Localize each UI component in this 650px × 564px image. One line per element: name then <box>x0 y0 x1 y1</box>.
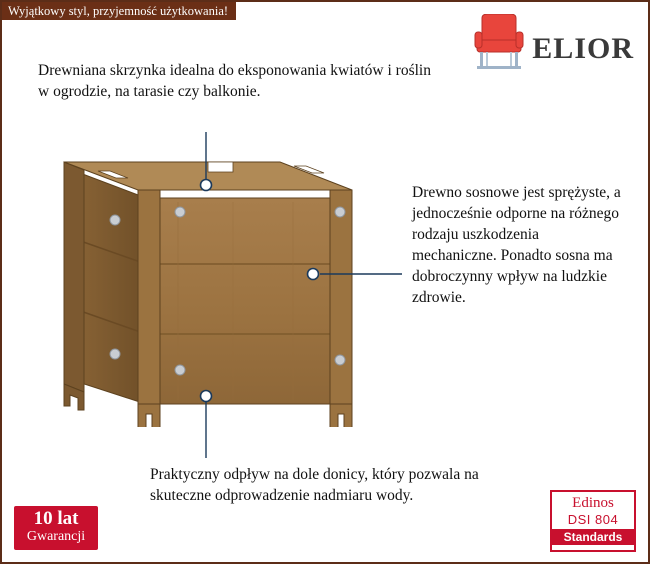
infographic-page: Wyjątkowy styl, przyjemność użytkowania!… <box>0 0 650 564</box>
callout-bottom-text: Praktyczny odpływ na dole donicy, który … <box>150 464 510 506</box>
certificate-name: Edinos <box>552 492 634 512</box>
brand-logo: ELIOR <box>444 14 634 76</box>
certificate-code: DSI 804 <box>552 512 634 527</box>
warranty-years: 10 lat <box>14 506 98 529</box>
warranty-badge: 10 lat Gwarancji <box>14 506 98 550</box>
brand-name: ELIOR <box>532 32 634 66</box>
callout-right-text: Drewno sosnowe jest sprężyste, a jednocz… <box>412 182 627 308</box>
callout-top-text: Drewniana skrzynka idealna do eksponowan… <box>38 60 438 102</box>
certificate-badge: Edinos DSI 804 Standards <box>550 490 636 552</box>
certificate-standards: Standards <box>552 529 634 545</box>
header-banner: Wyjątkowy styl, przyjemność użytkowania! <box>2 2 236 20</box>
product-image <box>58 142 388 427</box>
armchair-icon <box>472 14 526 72</box>
warranty-label: Gwarancji <box>14 529 98 545</box>
